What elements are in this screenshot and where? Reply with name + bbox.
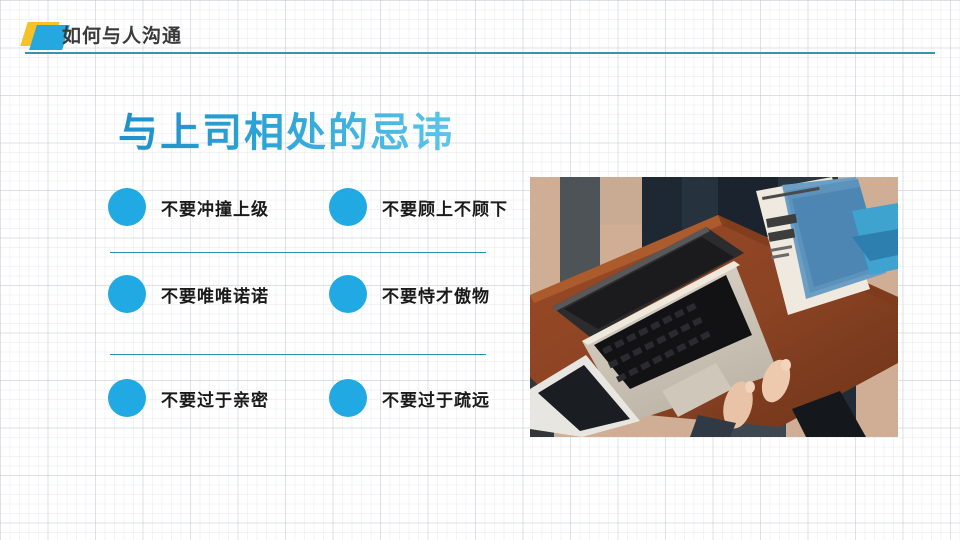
slide-canvas: 如何与人沟通 与上司相处的忌讳 不要冲撞上级 不要顾上不顾下 不要唯唯诺诺: [0, 0, 960, 540]
list-item-label: 不要过于亲密: [161, 386, 269, 411]
bullet-dot-icon: [329, 275, 367, 313]
bullet-dot-icon: [108, 188, 146, 226]
list-item: 不要过于疏远: [329, 375, 490, 421]
list-item: 不要唯唯诺诺: [108, 271, 269, 317]
bullet-row: 不要唯唯诺诺 不要恃才傲物: [0, 271, 530, 317]
bullet-dot-icon: [329, 188, 367, 226]
bullet-dot-icon: [329, 379, 367, 417]
bullet-dot-icon: [108, 379, 146, 417]
list-item-label: 不要恃才傲物: [382, 282, 490, 307]
list-item-label: 不要唯唯诺诺: [161, 282, 269, 307]
desk-photo: [530, 177, 898, 437]
list-item: 不要冲撞上级: [108, 184, 269, 230]
row-divider: [110, 252, 486, 253]
bullet-dot-icon: [108, 275, 146, 313]
list-item: 不要恃才傲物: [329, 271, 490, 317]
list-item: 不要顾上不顾下: [329, 184, 508, 230]
list-item-label: 不要过于疏远: [382, 386, 490, 411]
list-item-label: 不要冲撞上级: [161, 195, 269, 220]
desk-photo-illustration: [530, 177, 898, 437]
list-item: 不要过于亲密: [108, 375, 269, 421]
bullet-list: 不要冲撞上级 不要顾上不顾下 不要唯唯诺诺 不要恃才傲物 不要过于亲密: [0, 0, 530, 540]
list-item-label: 不要顾上不顾下: [382, 195, 508, 220]
row-divider: [110, 354, 486, 355]
bullet-row: 不要冲撞上级 不要顾上不顾下: [0, 184, 530, 230]
bullet-row: 不要过于亲密 不要过于疏远: [0, 375, 530, 421]
